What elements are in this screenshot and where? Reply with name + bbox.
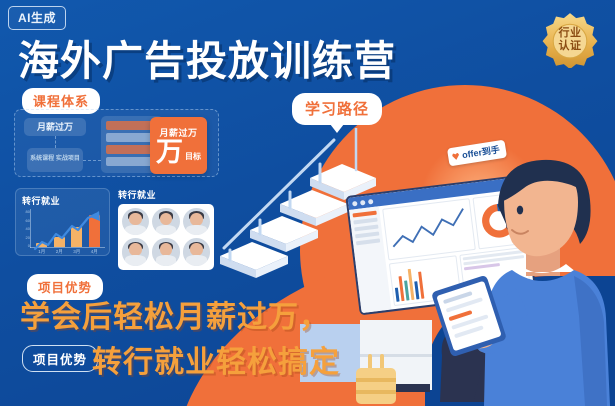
advantage-headline-line2: 转行就业轻松搞定 xyxy=(92,337,340,381)
avatars-title: 转行就业 xyxy=(118,188,214,201)
chart-plot-area: 80 60 40 20 0 1月 2月 3月 4月 xyxy=(22,209,105,256)
line-chart-icon xyxy=(386,202,473,258)
suitcase-icon xyxy=(352,352,400,406)
diagram-node-secondary: 系统课程 实战项目 xyxy=(27,148,83,172)
chart-title: 转行就业 xyxy=(22,194,103,207)
avatar xyxy=(122,238,149,265)
avatar xyxy=(152,208,179,235)
diagram-connector-vertical xyxy=(55,136,56,148)
poster-root: AI生成 行业 认证 海外广告投放训练营 课程体系 月薪过万 系统课程 实战项目 xyxy=(0,0,615,406)
section-label-learning-path: 学习路径 xyxy=(292,93,382,125)
avatar-grid xyxy=(118,204,214,270)
mini-bar xyxy=(398,276,404,301)
avatar xyxy=(183,238,210,265)
mini-bar xyxy=(418,272,424,299)
chart-x-tick-labels: 1月 2月 3月 4月 xyxy=(33,248,103,256)
cert-line-1: 行业 xyxy=(559,27,582,40)
student-avatars-card: 转行就业 xyxy=(118,188,214,256)
avatar xyxy=(183,208,210,235)
diagram-connector-mid xyxy=(83,160,101,161)
suitcase-illustration xyxy=(352,352,400,406)
x-tick: 2月 xyxy=(56,249,63,255)
avatar xyxy=(152,238,179,265)
dashboard-sidebar-item xyxy=(353,211,377,218)
dashboard-sidebar-item xyxy=(355,231,379,238)
salary-highlight-box: 月薪过万 万 目标 xyxy=(150,117,207,174)
salary-unit: 目标 xyxy=(185,151,201,165)
window-dot-icon xyxy=(352,200,358,206)
window-dot-icon xyxy=(360,199,366,205)
salary-big-character: 万 xyxy=(156,140,183,166)
dashboard-line-chart-panel xyxy=(382,198,476,260)
window-dot-icon xyxy=(368,198,374,204)
dashboard-sidebar-item xyxy=(354,225,378,232)
x-tick: 4月 xyxy=(91,249,98,255)
career-growth-chart: 转行就业 80 60 40 20 0 1月 xyxy=(15,188,110,256)
mini-bar xyxy=(395,287,400,302)
cert-line-2: 认证 xyxy=(559,40,582,53)
advantage-headline-line1: 学会后轻松月薪过万， xyxy=(20,292,330,336)
avatar xyxy=(122,208,149,235)
diagram-node-primary: 月薪过万 xyxy=(24,118,86,136)
x-tick: 3月 xyxy=(73,249,80,255)
page-title: 海外广告投放训练营 xyxy=(18,27,396,87)
section-label-advantage-bottom: 项目优势 xyxy=(22,345,98,372)
dashboard-sidebar-item xyxy=(353,218,377,225)
x-tick: 1月 xyxy=(38,249,45,255)
dashboard-sidebar-item xyxy=(356,238,380,245)
person-illustration xyxy=(468,148,615,406)
person-icon xyxy=(468,148,615,406)
certification-badge-text: 行业 认证 xyxy=(542,12,598,68)
industry-certification-badge: 行业 认证 xyxy=(542,12,598,68)
